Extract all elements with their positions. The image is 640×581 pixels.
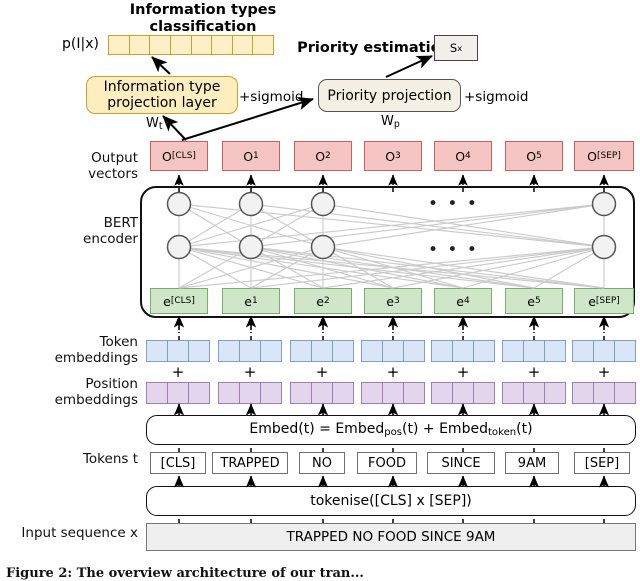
row-label-position-embeddings: Position embeddings xyxy=(0,376,138,408)
prob-cell xyxy=(150,36,171,54)
token-embedding-cell xyxy=(240,341,261,361)
embedding-vector-box: e2 xyxy=(294,288,352,314)
token-embedding-strip xyxy=(361,340,425,362)
priority-score-label: S xyxy=(450,41,457,55)
token-embedding-strip xyxy=(146,340,210,362)
heading-information-types: Information types classification xyxy=(88,2,318,36)
prob-cell xyxy=(109,36,130,54)
prob-cell xyxy=(130,36,151,54)
position-embedding-cell xyxy=(189,383,209,403)
position-embedding-strip xyxy=(361,382,425,404)
probability-label: p(I|x) xyxy=(62,36,99,52)
token-embedding-cell xyxy=(573,341,594,361)
embedding-vector-label: e xyxy=(456,294,464,309)
token-embedding-strip xyxy=(290,340,354,362)
position-embedding-cell xyxy=(333,383,353,403)
tokenise-to-token-arrow xyxy=(179,476,604,486)
priority-score-box: Sx xyxy=(434,35,478,61)
position-embedding-cell xyxy=(168,383,189,403)
position-embedding-strip xyxy=(572,382,636,404)
token-embedding-cell xyxy=(168,341,189,361)
figure-canvas: Information types classification Priorit… xyxy=(0,0,640,575)
prob-cell xyxy=(212,36,233,54)
input-sequence-text: TRAPPED NO FOOD SINCE 9AM xyxy=(287,529,496,545)
position-embedding-cell xyxy=(615,383,635,403)
plus-symbol: + xyxy=(431,363,495,381)
output-vector-label: O xyxy=(587,149,597,164)
token-embedding-strip xyxy=(502,340,566,362)
token-embedding-cell xyxy=(545,341,565,361)
position-embedding-strip xyxy=(290,382,354,404)
embed-formula-box: Embed(t) = Embedpos(t) + Embedtoken(t) xyxy=(146,415,636,445)
output-vector-box: O1 xyxy=(222,141,280,171)
embedding-vector-label: e xyxy=(386,294,394,309)
output-vector-label: O xyxy=(455,149,465,164)
ocls-to-info-projection-arrow xyxy=(163,116,186,140)
token-embedding-cell xyxy=(219,341,240,361)
embedding-vector-label: e xyxy=(527,294,535,309)
embedding-vector-box: e1 xyxy=(222,288,280,314)
priority-score-subscript: x xyxy=(457,43,462,53)
priority-weight: Wp xyxy=(381,114,400,130)
prob-cell xyxy=(253,36,273,54)
position-embedding-cell xyxy=(474,383,494,403)
token-box: 9AM xyxy=(505,452,559,474)
priority-activation: +sigmoid xyxy=(464,89,528,105)
prob-cell xyxy=(233,36,254,54)
position-embedding-cell xyxy=(261,383,281,403)
token-embedding-cell xyxy=(147,341,168,361)
embedding-vector-box: e[CLS] xyxy=(150,288,208,314)
position-embedding-cell xyxy=(524,383,545,403)
position-embedding-strip xyxy=(502,382,566,404)
output-vector-box: O4 xyxy=(434,141,492,171)
position-embedding-cell xyxy=(453,383,474,403)
embedding-vector-box: e[SEP] xyxy=(574,288,634,314)
token-to-embed-connector xyxy=(179,445,604,452)
embed-to-position-arrow xyxy=(179,404,604,415)
token-embedding-cell xyxy=(524,341,545,361)
embedding-vector-box: e4 xyxy=(434,288,492,314)
token-embedding-cell xyxy=(383,341,404,361)
tokenise-box: tokenise([CLS] x [SEP]) xyxy=(146,486,636,516)
position-embedding-cell xyxy=(573,383,594,403)
encoder-ellipsis-lower: • • • xyxy=(428,240,479,260)
output-vector-label: O xyxy=(526,149,536,164)
token-embedding-strip xyxy=(431,340,495,362)
row-label-tokens: Tokens t xyxy=(0,451,138,467)
output-vector-label: O xyxy=(243,149,253,164)
token-embedding-cell xyxy=(312,341,333,361)
row-label-bert-encoder: BERT encoder xyxy=(0,215,138,247)
token-box: SINCE xyxy=(427,452,495,474)
priority-projection-label: Priority projection xyxy=(327,88,451,104)
input-to-tokenise-connector xyxy=(179,516,604,523)
row-label-input-sequence: Input sequence x xyxy=(0,525,138,541)
output-vector-box: O[SEP] xyxy=(574,141,634,171)
position-embedding-cell xyxy=(291,383,312,403)
information-type-weight: Wt xyxy=(146,116,163,132)
token-embedding-cell xyxy=(291,341,312,361)
input-sequence-bar: TRAPPED NO FOOD SINCE 9AM xyxy=(146,523,636,551)
plus-symbol: + xyxy=(502,363,566,381)
output-vector-box: O5 xyxy=(505,141,563,171)
position-embedding-cell xyxy=(545,383,565,403)
token-embedding-cell xyxy=(474,341,494,361)
position-embedding-strip xyxy=(431,382,495,404)
plus-symbol: + xyxy=(290,363,354,381)
token-embedding-cell xyxy=(333,341,353,361)
token-embedding-cell xyxy=(615,341,635,361)
strip-to-embedding-connector xyxy=(179,332,604,340)
output-vector-label: O xyxy=(315,149,325,164)
plus-symbol: + xyxy=(218,363,282,381)
embedding-vector-label: e xyxy=(244,294,252,309)
output-vector-box: O[CLS] xyxy=(150,141,208,171)
token-embedding-strip xyxy=(572,340,636,362)
token-embedding-strip xyxy=(218,340,282,362)
priority-projection-layer[interactable]: Priority projection xyxy=(318,79,461,112)
position-embedding-cell xyxy=(240,383,261,403)
position-embedding-cell xyxy=(219,383,240,403)
token-embedding-cell xyxy=(362,341,383,361)
embedding-vector-label: e xyxy=(163,294,171,309)
embedding-vector-label: e xyxy=(316,294,324,309)
info-projection-to-probability-arrow xyxy=(152,57,170,74)
token-embedding-cell xyxy=(261,341,281,361)
prob-cell xyxy=(171,36,192,54)
token-box: FOOD xyxy=(357,452,417,474)
output-vector-label: O xyxy=(162,149,172,164)
position-embedding-cell xyxy=(503,383,524,403)
embed-formula-text: Embed(t) = Embedpos(t) + Embedtoken(t) xyxy=(249,421,532,438)
output-vector-box: O2 xyxy=(294,141,352,171)
information-type-projection-label: Information type projection layer xyxy=(104,79,221,111)
token-box: TRAPPED xyxy=(212,452,288,474)
position-embedding-cell xyxy=(362,383,383,403)
token-box: [CLS] xyxy=(150,452,206,474)
information-type-probability-vector xyxy=(108,35,274,55)
token-embedding-cell xyxy=(189,341,209,361)
embedding-vector-box: e5 xyxy=(505,288,563,314)
plus-symbol: + xyxy=(361,363,425,381)
information-type-activation: +sigmoid xyxy=(239,89,303,105)
row-label-token-embeddings: Token embeddings xyxy=(0,334,138,366)
priority-projection-to-score-arrow xyxy=(386,56,432,77)
position-embedding-cell xyxy=(404,383,424,403)
tokenise-label: tokenise([CLS] x [SEP]) xyxy=(310,493,472,509)
embedding-vector-box: e3 xyxy=(364,288,422,314)
position-embedding-cell xyxy=(383,383,404,403)
token-embedding-cell xyxy=(432,341,453,361)
information-type-projection-layer[interactable]: Information type projection layer xyxy=(86,76,238,114)
token-embedding-cell xyxy=(453,341,474,361)
position-embedding-cell xyxy=(594,383,615,403)
figure-caption: Figure 2: The overview architecture of o… xyxy=(6,566,364,581)
token-box: [SEP] xyxy=(574,452,630,474)
embedding-into-encoder-arrow xyxy=(179,316,604,330)
position-embedding-cell xyxy=(312,383,333,403)
token-embedding-cell xyxy=(404,341,424,361)
row-label-output-vectors: Output vectors xyxy=(0,150,138,182)
output-vector-label: O xyxy=(385,149,395,164)
plus-symbol: + xyxy=(146,363,210,381)
embedding-vector-label: e xyxy=(588,294,596,309)
token-embedding-cell xyxy=(594,341,615,361)
token-embedding-cell xyxy=(503,341,524,361)
position-embedding-cell xyxy=(432,383,453,403)
output-vector-box: O3 xyxy=(364,141,422,171)
plus-symbol: + xyxy=(572,363,636,381)
position-embedding-cell xyxy=(147,383,168,403)
position-embedding-strip xyxy=(146,382,210,404)
encoder-ellipsis-upper: • • • xyxy=(428,194,479,214)
token-box: NO xyxy=(299,452,345,474)
position-embedding-strip xyxy=(218,382,282,404)
prob-cell xyxy=(192,36,213,54)
